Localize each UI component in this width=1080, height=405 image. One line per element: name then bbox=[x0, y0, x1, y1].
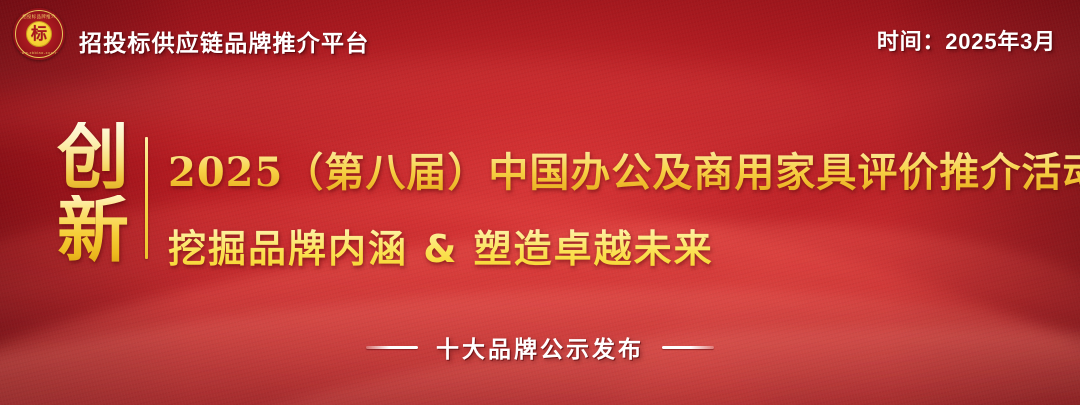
promo-banner: 招投标品牌推介 标 www.zbbiao-xxx.cn 招投标供应链品牌推介平台… bbox=[0, 0, 1080, 405]
keyword-block: 创 新 bbox=[50, 122, 136, 265]
seal-logo-icon: 招投标品牌推介 标 www.zbbiao-xxx.cn bbox=[13, 8, 65, 60]
keyword-char-1: 创 bbox=[57, 122, 129, 193]
event-headline: 2025（第八届）中国办公及商用家具评价推介活动 bbox=[168, 140, 1080, 198]
keyword-char-2: 新 bbox=[57, 195, 129, 266]
footer-dash-left-icon bbox=[366, 346, 418, 349]
footer-dash-right-icon bbox=[662, 346, 714, 349]
banner-footer: 十大品牌公示发布 bbox=[0, 330, 1080, 364]
logo-arc-bottom-text: www.zbbiao-xxx.cn bbox=[13, 51, 65, 55]
footer-announcement-text: 十大品牌公示发布 bbox=[436, 330, 644, 364]
platform-title: 招投标供应链品牌推介平台 bbox=[79, 24, 369, 58]
timestamp-label: 时间：2025年3月 bbox=[877, 24, 1056, 56]
banner-header: 招投标品牌推介 标 www.zbbiao-xxx.cn 招投标供应链品牌推介平台… bbox=[0, 0, 1080, 72]
event-subheadline: 挖掘品牌内涵 & 塑造卓越未来 bbox=[168, 218, 714, 273]
vertical-divider bbox=[145, 137, 148, 259]
